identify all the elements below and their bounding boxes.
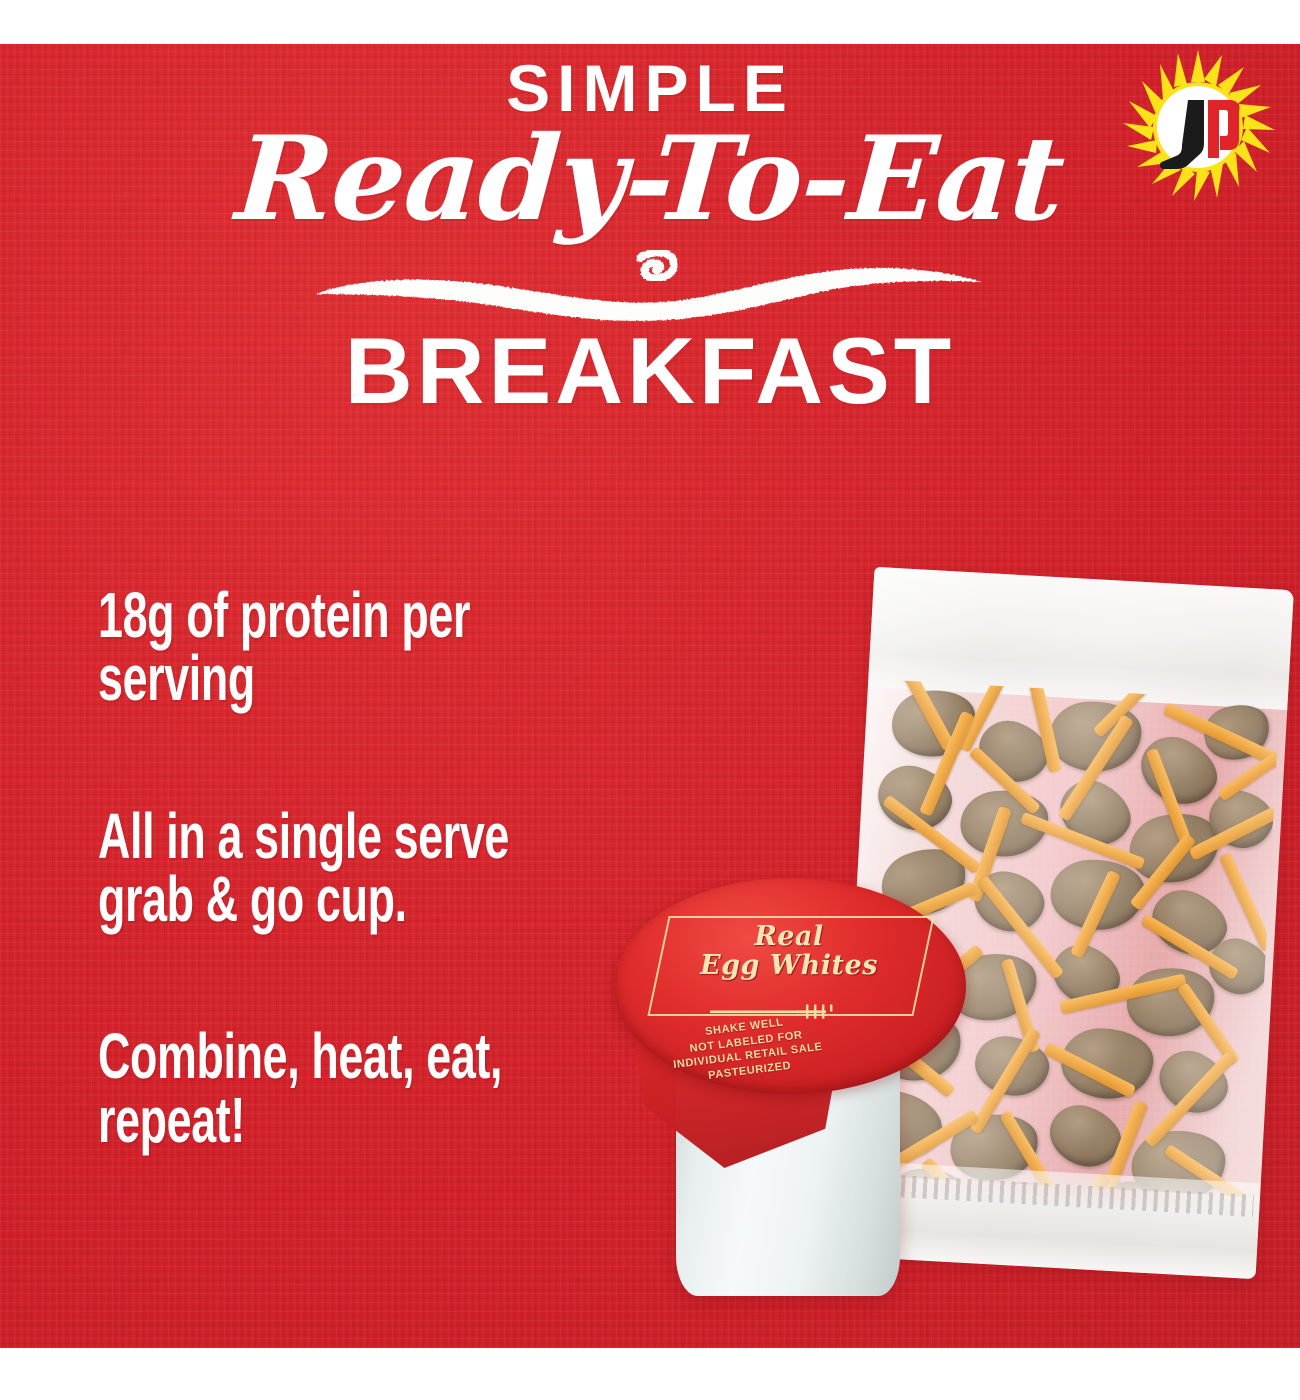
egg-white-cup: Real Egg Whites SHAKE WELL NOT LABELED F… — [614, 878, 966, 1298]
headline-block: SIMPLE Ready-To-Eat BREAKFAST — [0, 0, 1300, 418]
headline-kicker: SIMPLE — [0, 0, 1300, 121]
advertisement-canvas: SIMPLE Ready-To-Eat BREAKFAST — [0, 0, 1300, 1400]
boot-right-shaft-icon — [1208, 100, 1219, 158]
lid-product-name: Real Egg Whites — [658, 922, 920, 980]
jimmy-dean-sunburst-logo — [1118, 48, 1278, 208]
benefit-item-protein: 18g of protein per serving — [98, 584, 588, 711]
lid-title-line-2: Egg Whites — [658, 951, 920, 980]
lid-title-line-1: Real — [658, 922, 920, 951]
headline-main: BREAKFAST — [0, 324, 1300, 418]
lid-fine-print: SHAKE WELL NOT LABELED FOR INDIVIDUAL RE… — [639, 1007, 855, 1090]
benefit-item-combine-heat-eat: Combine, heat, eat, repeat! — [98, 1025, 588, 1152]
product-photo-group: Real Egg Whites SHAKE WELL NOT LABELED F… — [600, 560, 1300, 1350]
headline-script-line: Ready-To-Eat — [0, 117, 1300, 242]
cheese-shred — [1219, 852, 1274, 951]
benefit-item-single-serve: All in a single serve grab & go cup. — [98, 805, 588, 932]
cup-foil-lid: Real Egg Whites SHAKE WELL NOT LABELED F… — [614, 878, 966, 1094]
